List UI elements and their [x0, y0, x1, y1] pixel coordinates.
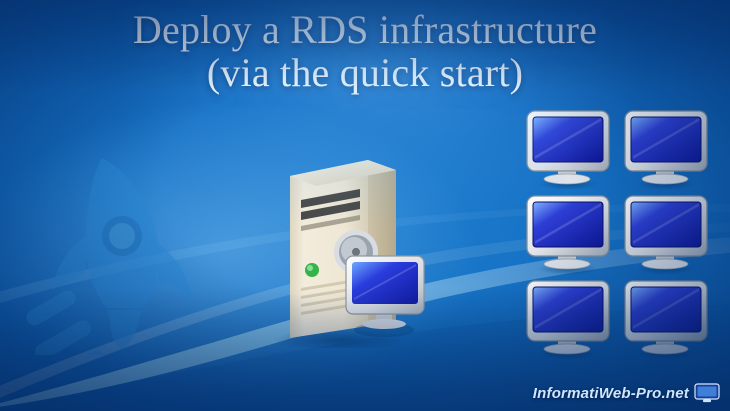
watermark-text: InformatiWeb-Pro.net [533, 385, 689, 402]
crt-monitor-icon [625, 111, 707, 190]
crt-monitor-icon [527, 281, 609, 360]
crt-monitor-icon [625, 281, 707, 360]
monitor-grid [524, 108, 720, 360]
site-watermark: InformatiWeb-Pro.net [533, 383, 720, 403]
crt-monitor-icon [527, 196, 609, 275]
crt-monitor-icon [527, 111, 609, 190]
page-title-line-2: (via the quick start) [0, 51, 730, 94]
rocket-icon [22, 150, 212, 355]
monitor-icon [694, 383, 720, 403]
screenshot-canvas: Deploy a RDS infrastructure (via the qui… [0, 0, 730, 411]
crt-monitor-icon [625, 196, 707, 275]
page-title: Deploy a RDS infrastructure (via the qui… [0, 8, 730, 94]
server-tower-icon [268, 148, 448, 348]
page-title-line-1: Deploy a RDS infrastructure [133, 7, 597, 52]
